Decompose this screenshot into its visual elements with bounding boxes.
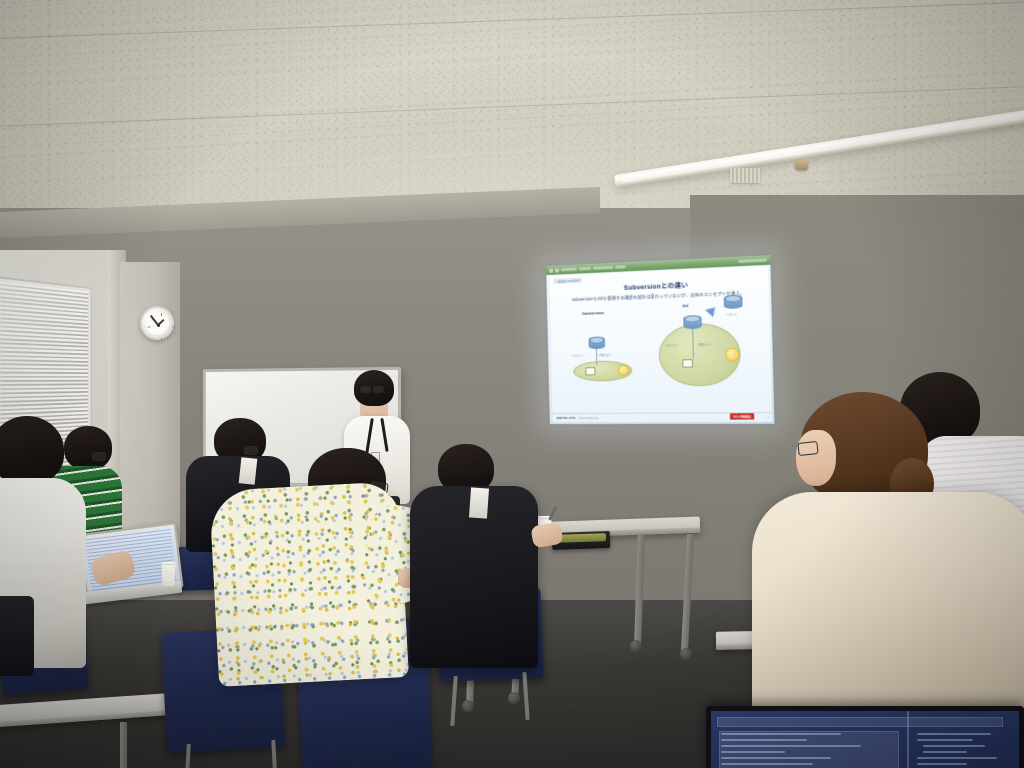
developer-face-icon (618, 365, 630, 376)
desk-caster (462, 700, 474, 712)
glasses-icon (373, 386, 384, 393)
wall-clock (140, 306, 174, 340)
diagram-label-git: Git (664, 302, 707, 309)
annotation-git-repo: リポジトリ (665, 343, 678, 347)
laptop-screen (711, 711, 1019, 768)
toolbar-icon[interactable] (555, 268, 559, 272)
toolbar-icon[interactable] (549, 268, 553, 272)
git-repository-icon (683, 315, 702, 329)
dress-shirt-collar (469, 487, 489, 518)
glasses-icon[interactable] (797, 441, 818, 456)
desk-caster (630, 640, 642, 652)
slide-corner-tag: ○○勉強会 2014年6月 (553, 277, 581, 283)
clock-center-pin (157, 324, 160, 327)
toolbar-menu[interactable] (561, 268, 577, 272)
annotation-git-remote: リモート (726, 312, 737, 317)
trousers (0, 596, 34, 676)
slide-badge: Git入門勉強会 (730, 414, 754, 420)
head (0, 416, 64, 484)
desk-caster (680, 648, 692, 660)
diagram-label-subversion: Subversion (568, 310, 619, 317)
sprinkler-head-icon (795, 160, 808, 170)
glasses-icon (360, 386, 371, 393)
toolbar-menu[interactable] (738, 258, 767, 263)
window-titlebar (717, 717, 1003, 727)
face-profile (796, 430, 836, 486)
git-remote-repository-icon (724, 295, 743, 309)
annotation-svn-work: 作業コピー (599, 353, 612, 357)
push-pull-arrow-icon (705, 304, 719, 317)
toolbar-menu[interactable] (615, 265, 625, 269)
slide-logo: WHITELAPS (557, 416, 576, 420)
slide-page-number: 7 (767, 416, 769, 419)
subversion-connector (596, 349, 597, 365)
subversion-file-icon (585, 367, 595, 375)
ceiling-vent (730, 168, 760, 183)
glasses-icon (92, 452, 106, 461)
glasses-icon (244, 446, 258, 455)
projection-screen: ○○勉強会 2014年6月 Subversionとの違い Subversionも… (546, 255, 774, 424)
annotation-svn-repo: リポジトリ (571, 353, 584, 357)
head (64, 426, 112, 470)
paper-cup (160, 562, 177, 586)
pane-divider (907, 711, 909, 768)
desk-leg (120, 722, 127, 768)
dress-shirt-collar (239, 457, 258, 485)
seminar-room-photo: ○○勉強会 2014年6月 Subversionとの違い Subversionも… (0, 0, 1024, 768)
laptop-front-right[interactable] (706, 706, 1024, 768)
git-file-icon (682, 359, 693, 368)
slide-content: ○○勉強会 2014年6月 Subversionとの違い Subversionも… (549, 266, 772, 422)
subversion-repository-icon (589, 336, 605, 349)
annotation-git-work: 作業ツリー (698, 342, 712, 347)
slide-url: www.example.co.jp (578, 417, 598, 419)
desk-caster (508, 692, 520, 704)
bento-food (556, 533, 606, 543)
toolbar-menu[interactable] (593, 266, 613, 270)
toolbar-menu[interactable] (579, 267, 591, 271)
